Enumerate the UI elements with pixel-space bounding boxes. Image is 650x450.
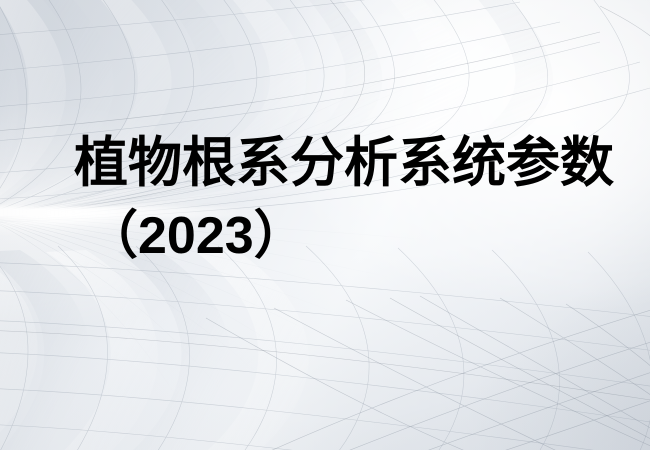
slide-canvas: 植物根系分析系统参数 （2023） [0,0,650,450]
page-subtitle-year: （2023） [86,210,306,262]
title-block: 植物根系分析系统参数 （2023） [0,0,650,450]
page-title: 植物根系分析系统参数 [74,136,614,190]
